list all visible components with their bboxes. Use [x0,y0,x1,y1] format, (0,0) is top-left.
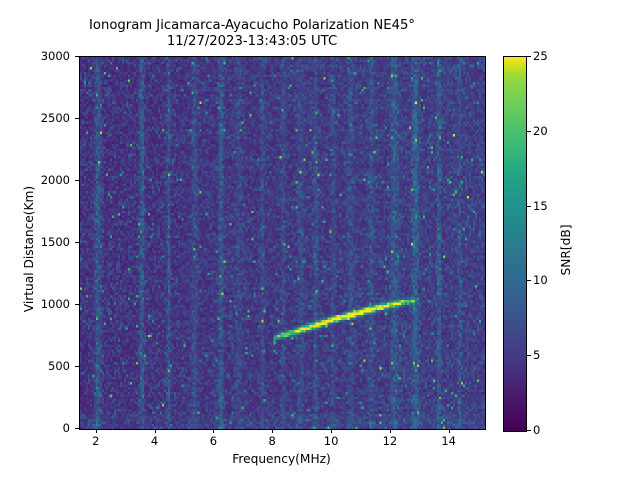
x-tick-label: 2 [92,434,99,448]
ionogram-figure: Ionogram Jicamarca-Ayacucho Polarization… [0,0,640,480]
colorbar-tick-mark [527,56,531,57]
colorbar-gradient[interactable] [503,56,527,432]
x-tick-mark [96,429,97,433]
ionogram-pixel-grid [80,57,485,429]
ionogram-heatmap [80,57,485,429]
colorbar-tick-mark [527,206,531,207]
x-tick-mark [213,429,214,433]
x-tick-mark [390,429,391,433]
colorbar-tick-mark [527,355,531,356]
colorbar-tick-mark [527,280,531,281]
x-tick-label: 8 [269,434,276,448]
y-tick-mark [75,242,79,243]
colorbar-tick-mark [527,430,531,431]
x-axis-label: Frequency(MHz) [79,452,484,466]
y-tick-mark [75,366,79,367]
y-tick-mark [75,428,79,429]
ionogram-plot-area[interactable] [79,56,486,430]
x-tick-label: 14 [441,434,456,448]
chart-title: Ionogram Jicamarca-Ayacucho Polarization… [0,18,504,50]
x-tick-mark [331,429,332,433]
x-tick-label: 4 [151,434,158,448]
x-tick-label: 12 [383,434,398,448]
colorbar-tick-label: 20 [533,124,548,138]
y-tick-label: 3000 [0,49,70,63]
colorbar-tick-label: 25 [533,49,548,63]
colorbar-tick-label: 0 [533,423,540,437]
y-tick-mark [75,304,79,305]
y-tick-mark [75,56,79,57]
x-tick-label: 6 [210,434,217,448]
colorbar-tick-label: 10 [533,273,548,287]
x-tick-label: 10 [324,434,339,448]
y-tick-label: 0 [0,421,70,435]
colorbar-tick-mark [527,131,531,132]
y-tick-mark [75,180,79,181]
y-tick-label: 2500 [0,111,70,125]
x-tick-mark [272,429,273,433]
y-tick-mark [75,118,79,119]
colorbar-label: SNR[dB] [559,160,573,340]
y-axis-label: Virtual Distance(Km) [22,134,36,364]
colorbar-tick-label: 15 [533,199,548,213]
colorbar-tick-label: 5 [533,348,540,362]
x-tick-mark [449,429,450,433]
x-tick-mark [155,429,156,433]
